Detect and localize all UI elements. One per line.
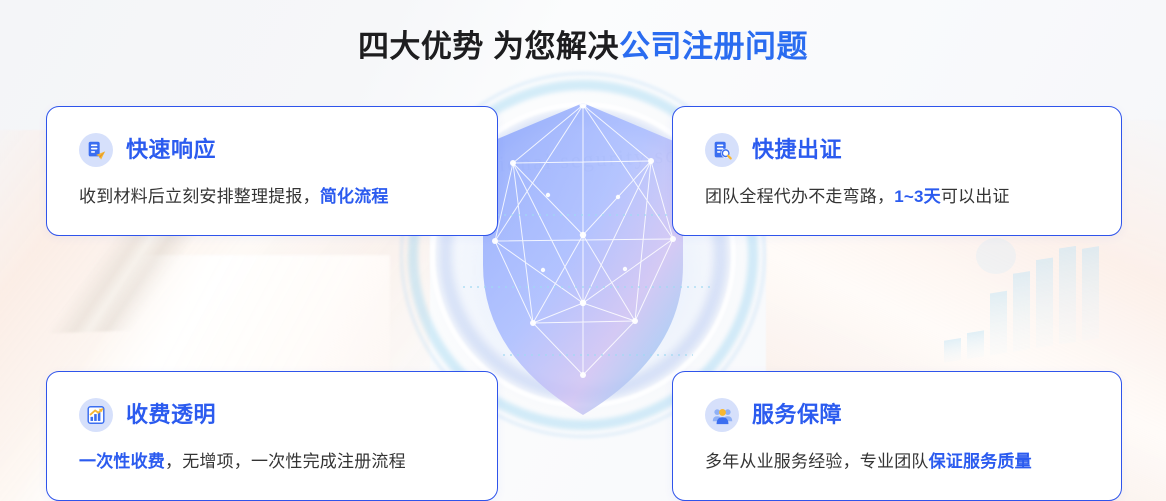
card-header: 服务保障 bbox=[673, 372, 1121, 432]
card-description: 收到材料后立刻安排整理提报，简化流程 bbox=[47, 167, 497, 207]
desc-prefix: 多年从业服务经验，专业团队 bbox=[705, 452, 929, 471]
card-header: 快速响应 bbox=[47, 107, 497, 167]
card-header: 收费透明 bbox=[47, 372, 497, 432]
desc-suffix: ，无增项，一次性完成注册流程 bbox=[165, 452, 406, 471]
card-description: 多年从业服务经验，专业团队保证服务质量 bbox=[673, 432, 1121, 472]
advantage-card-fast-response[interactable]: 快速响应 收到材料后立刻安排整理提报，简化流程 bbox=[46, 106, 498, 236]
document-search-icon bbox=[705, 133, 739, 167]
advantage-card-transparent-fees[interactable]: 收费透明 一次性收费，无增项，一次性完成注册流程 bbox=[46, 371, 498, 501]
card-title: 服务保障 bbox=[752, 404, 842, 426]
chart-arrow-up-icon bbox=[79, 398, 113, 432]
advantage-card-service-guarantee[interactable]: 服务保障 多年从业服务经验，专业团队保证服务质量 bbox=[672, 371, 1122, 501]
page-title-highlight: 公司注册问题 bbox=[619, 29, 808, 64]
advantage-card-fast-certificate[interactable]: 快捷出证 团队全程代办不走弯路，1~3天可以出证 bbox=[672, 106, 1122, 236]
document-paperplane-icon bbox=[79, 133, 113, 167]
card-description: 一次性收费，无增项，一次性完成注册流程 bbox=[47, 432, 497, 472]
desc-emphasis: 简化流程 bbox=[320, 187, 389, 206]
people-group-icon bbox=[705, 398, 739, 432]
card-title: 快捷出证 bbox=[752, 139, 842, 161]
card-title: 收费透明 bbox=[126, 404, 216, 426]
desc-emphasis: 1~3天 bbox=[894, 187, 941, 206]
page-title-plain: 四大优势 为您解决 bbox=[358, 29, 619, 64]
card-header: 快捷出证 bbox=[673, 107, 1121, 167]
promo-banner: Regional segurity scale bbox=[0, 0, 1166, 501]
desc-emphasis: 一次性收费 bbox=[79, 452, 165, 471]
background-bar-chart-graphic bbox=[936, 238, 1136, 368]
desc-emphasis: 保证服务质量 bbox=[929, 452, 1032, 471]
desc-suffix: 可以出证 bbox=[941, 187, 1010, 206]
desc-prefix: 团队全程代办不走弯路， bbox=[705, 187, 894, 206]
card-title: 快速响应 bbox=[126, 139, 216, 161]
desc-prefix: 收到材料后立刻安排整理提报， bbox=[79, 187, 320, 206]
page-title: 四大优势 为您解决公司注册问题 bbox=[0, 27, 1166, 67]
card-description: 团队全程代办不走弯路，1~3天可以出证 bbox=[673, 167, 1121, 207]
